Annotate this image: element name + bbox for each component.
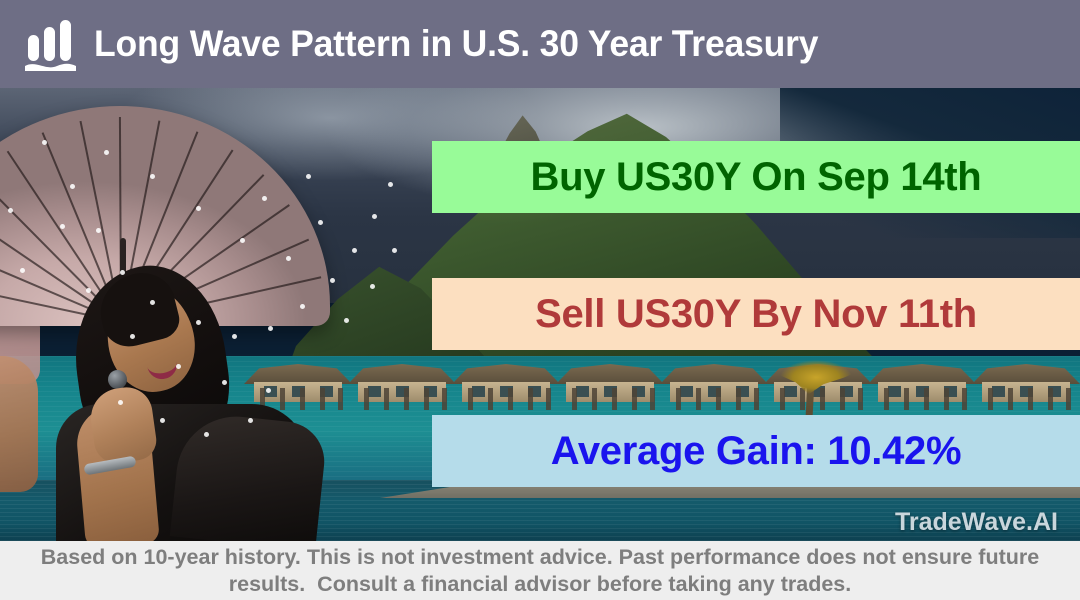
raindrop — [268, 326, 273, 331]
raindrop — [20, 268, 25, 273]
bungalow-piling — [676, 388, 681, 410]
bar-chart-wave-logo-icon — [24, 19, 78, 71]
bungalow-piling — [632, 388, 637, 410]
raindrop — [160, 418, 165, 423]
raindrop — [286, 256, 291, 261]
disclaimer-bar: Based on 10-year history. This is not in… — [0, 541, 1080, 600]
page-title: Long Wave Pattern in U.S. 30 Year Treasu… — [94, 23, 818, 65]
bungalow-piling — [572, 388, 577, 410]
bungalow-piling — [612, 388, 617, 410]
bungalow-piling — [904, 388, 909, 410]
raindrop — [330, 278, 335, 283]
raindrop — [352, 248, 357, 253]
bungalow-piling — [754, 388, 759, 410]
raindrop — [196, 206, 201, 211]
bungalow-piling — [716, 388, 721, 410]
raindrop — [306, 174, 311, 179]
bungalow-window — [784, 386, 797, 397]
bungalow-piling — [988, 388, 993, 410]
bungalow-piling — [780, 388, 785, 410]
bungalow-piling — [508, 388, 513, 410]
raindrop — [318, 220, 323, 225]
disclaimer-text: Based on 10-year history. This is not in… — [14, 544, 1066, 598]
raindrop — [372, 214, 377, 219]
raindrop — [248, 418, 253, 423]
raindrop — [86, 288, 91, 293]
raindrop — [42, 140, 47, 145]
raindrop — [388, 182, 393, 187]
overwater-bungalow — [874, 364, 970, 410]
bungalow-roof — [556, 364, 664, 384]
raindrop — [196, 320, 201, 325]
bungalow-piling — [736, 388, 741, 410]
bungalow-piling — [858, 388, 863, 410]
raindrop — [204, 432, 209, 437]
overwater-bungalow — [666, 364, 762, 410]
woman-with-umbrella — [0, 88, 450, 541]
callout-buy-label: Buy US30Y On Sep 14th — [531, 155, 982, 200]
raindrop — [8, 208, 13, 213]
bungalow-piling — [944, 388, 949, 410]
raindrop — [222, 380, 227, 385]
callout-buy: Buy US30Y On Sep 14th — [432, 141, 1080, 213]
promo-card: Long Wave Pattern in U.S. 30 Year Treasu… — [0, 0, 1080, 600]
bungalow-piling — [1066, 388, 1071, 410]
bungalow-roof — [452, 364, 560, 384]
partial-figure-left — [0, 356, 38, 492]
raindrop — [150, 174, 155, 179]
bungalow-window — [888, 386, 901, 397]
overwater-bungalow — [458, 364, 554, 410]
bungalow-roof — [972, 364, 1080, 384]
raindrop — [150, 300, 155, 305]
bungalow-piling — [884, 388, 889, 410]
raindrop — [344, 318, 349, 323]
bungalow-piling — [1008, 388, 1013, 410]
raindrop — [104, 150, 109, 155]
raindrop — [176, 364, 181, 369]
bungalow-window — [680, 386, 693, 397]
bungalow-piling — [650, 388, 655, 410]
raindrop — [130, 334, 135, 339]
raindrop — [232, 334, 237, 339]
earring — [108, 370, 127, 389]
raindrop — [118, 400, 123, 405]
bungalow-window — [992, 386, 1005, 397]
bungalow-roof — [660, 364, 768, 384]
raindrop — [300, 304, 305, 309]
callout-average-gain-label: Average Gain: 10.42% — [551, 429, 962, 474]
bungalow-piling — [1028, 388, 1033, 410]
bungalow-piling — [696, 388, 701, 410]
bungalow-piling — [488, 388, 493, 410]
raindrop — [266, 388, 271, 393]
raindrop — [120, 270, 125, 275]
bungalow-piling — [962, 388, 967, 410]
bungalow-piling — [546, 388, 551, 410]
raindrop — [60, 224, 65, 229]
bungalow-piling — [528, 388, 533, 410]
overwater-bungalow — [978, 364, 1074, 410]
bungalow-window — [576, 386, 589, 397]
bungalow-piling — [592, 388, 597, 410]
raindrop — [262, 196, 267, 201]
callout-average-gain: Average Gain: 10.42% — [432, 415, 1080, 487]
overwater-bungalow — [562, 364, 658, 410]
brand-watermark: TradeWave.AI — [895, 508, 1058, 537]
bungalow-piling — [820, 388, 825, 410]
bungalow-piling — [840, 388, 845, 410]
bungalow-piling — [800, 388, 805, 410]
bungalow-piling — [1048, 388, 1053, 410]
bungalow-piling — [924, 388, 929, 410]
header-bar: Long Wave Pattern in U.S. 30 Year Treasu… — [0, 0, 1080, 88]
raindrop — [240, 238, 245, 243]
callout-sell: Sell US30Y By Nov 11th — [432, 278, 1080, 350]
bungalow-window — [472, 386, 485, 397]
raindrop — [370, 284, 375, 289]
callout-sell-label: Sell US30Y By Nov 11th — [535, 292, 977, 337]
bungalow-roof — [868, 364, 976, 384]
bungalow-piling — [468, 388, 473, 410]
raindrop — [70, 184, 75, 189]
raindrop — [96, 228, 101, 233]
raindrop — [392, 248, 397, 253]
